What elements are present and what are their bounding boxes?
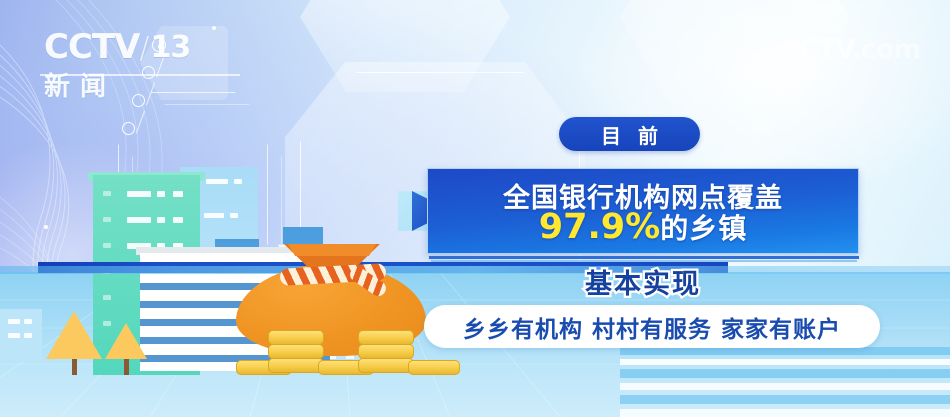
cctv13-logo: CCTV/13 新闻 bbox=[44, 30, 234, 102]
status-badge-current: 目 前 bbox=[559, 117, 700, 151]
watermark-text: CCTV bbox=[780, 34, 851, 65]
coin bbox=[358, 330, 414, 345]
hexagon-shape-top bbox=[300, 0, 510, 92]
coin-stack-2 bbox=[268, 331, 324, 417]
coin bbox=[358, 344, 414, 359]
coin-stack-5 bbox=[408, 361, 460, 417]
coin bbox=[268, 330, 324, 345]
logo-cctv-text: CCTV bbox=[44, 27, 139, 67]
banner-underline-1 bbox=[429, 256, 859, 259]
coin bbox=[358, 358, 414, 373]
money-bag-neck-highlight bbox=[288, 244, 376, 256]
coverage-unit: 的乡镇 bbox=[660, 212, 747, 245]
banner-line-2: 97.9%的乡镇 bbox=[427, 210, 859, 245]
cctv-com-watermark: CCTV.com bbox=[780, 34, 920, 65]
broadcast-graphic-frame: CCTV/13 新闻 CCTV.com bbox=[0, 0, 950, 417]
watermark-domain: .com bbox=[851, 34, 920, 65]
bottom-right-building-stripes bbox=[620, 347, 950, 417]
logo-underline bbox=[40, 74, 240, 76]
coin bbox=[268, 344, 324, 359]
coin-stack-4 bbox=[358, 331, 414, 417]
coin bbox=[408, 360, 460, 375]
building-small-left bbox=[0, 309, 42, 361]
tree-large bbox=[46, 311, 102, 375]
coin bbox=[268, 358, 324, 373]
achievements-pill: 乡乡有机构 村村有服务 家家有账户 bbox=[424, 305, 880, 348]
achievements-text: 乡乡有机构 村村有服务 家家有账户 bbox=[463, 310, 841, 344]
tree-small bbox=[105, 323, 147, 375]
coverage-percentage: 97.9% bbox=[539, 207, 660, 247]
logo-channel-number: 13 bbox=[149, 33, 193, 63]
subheading-achieved: 基本实现 bbox=[427, 262, 859, 301]
